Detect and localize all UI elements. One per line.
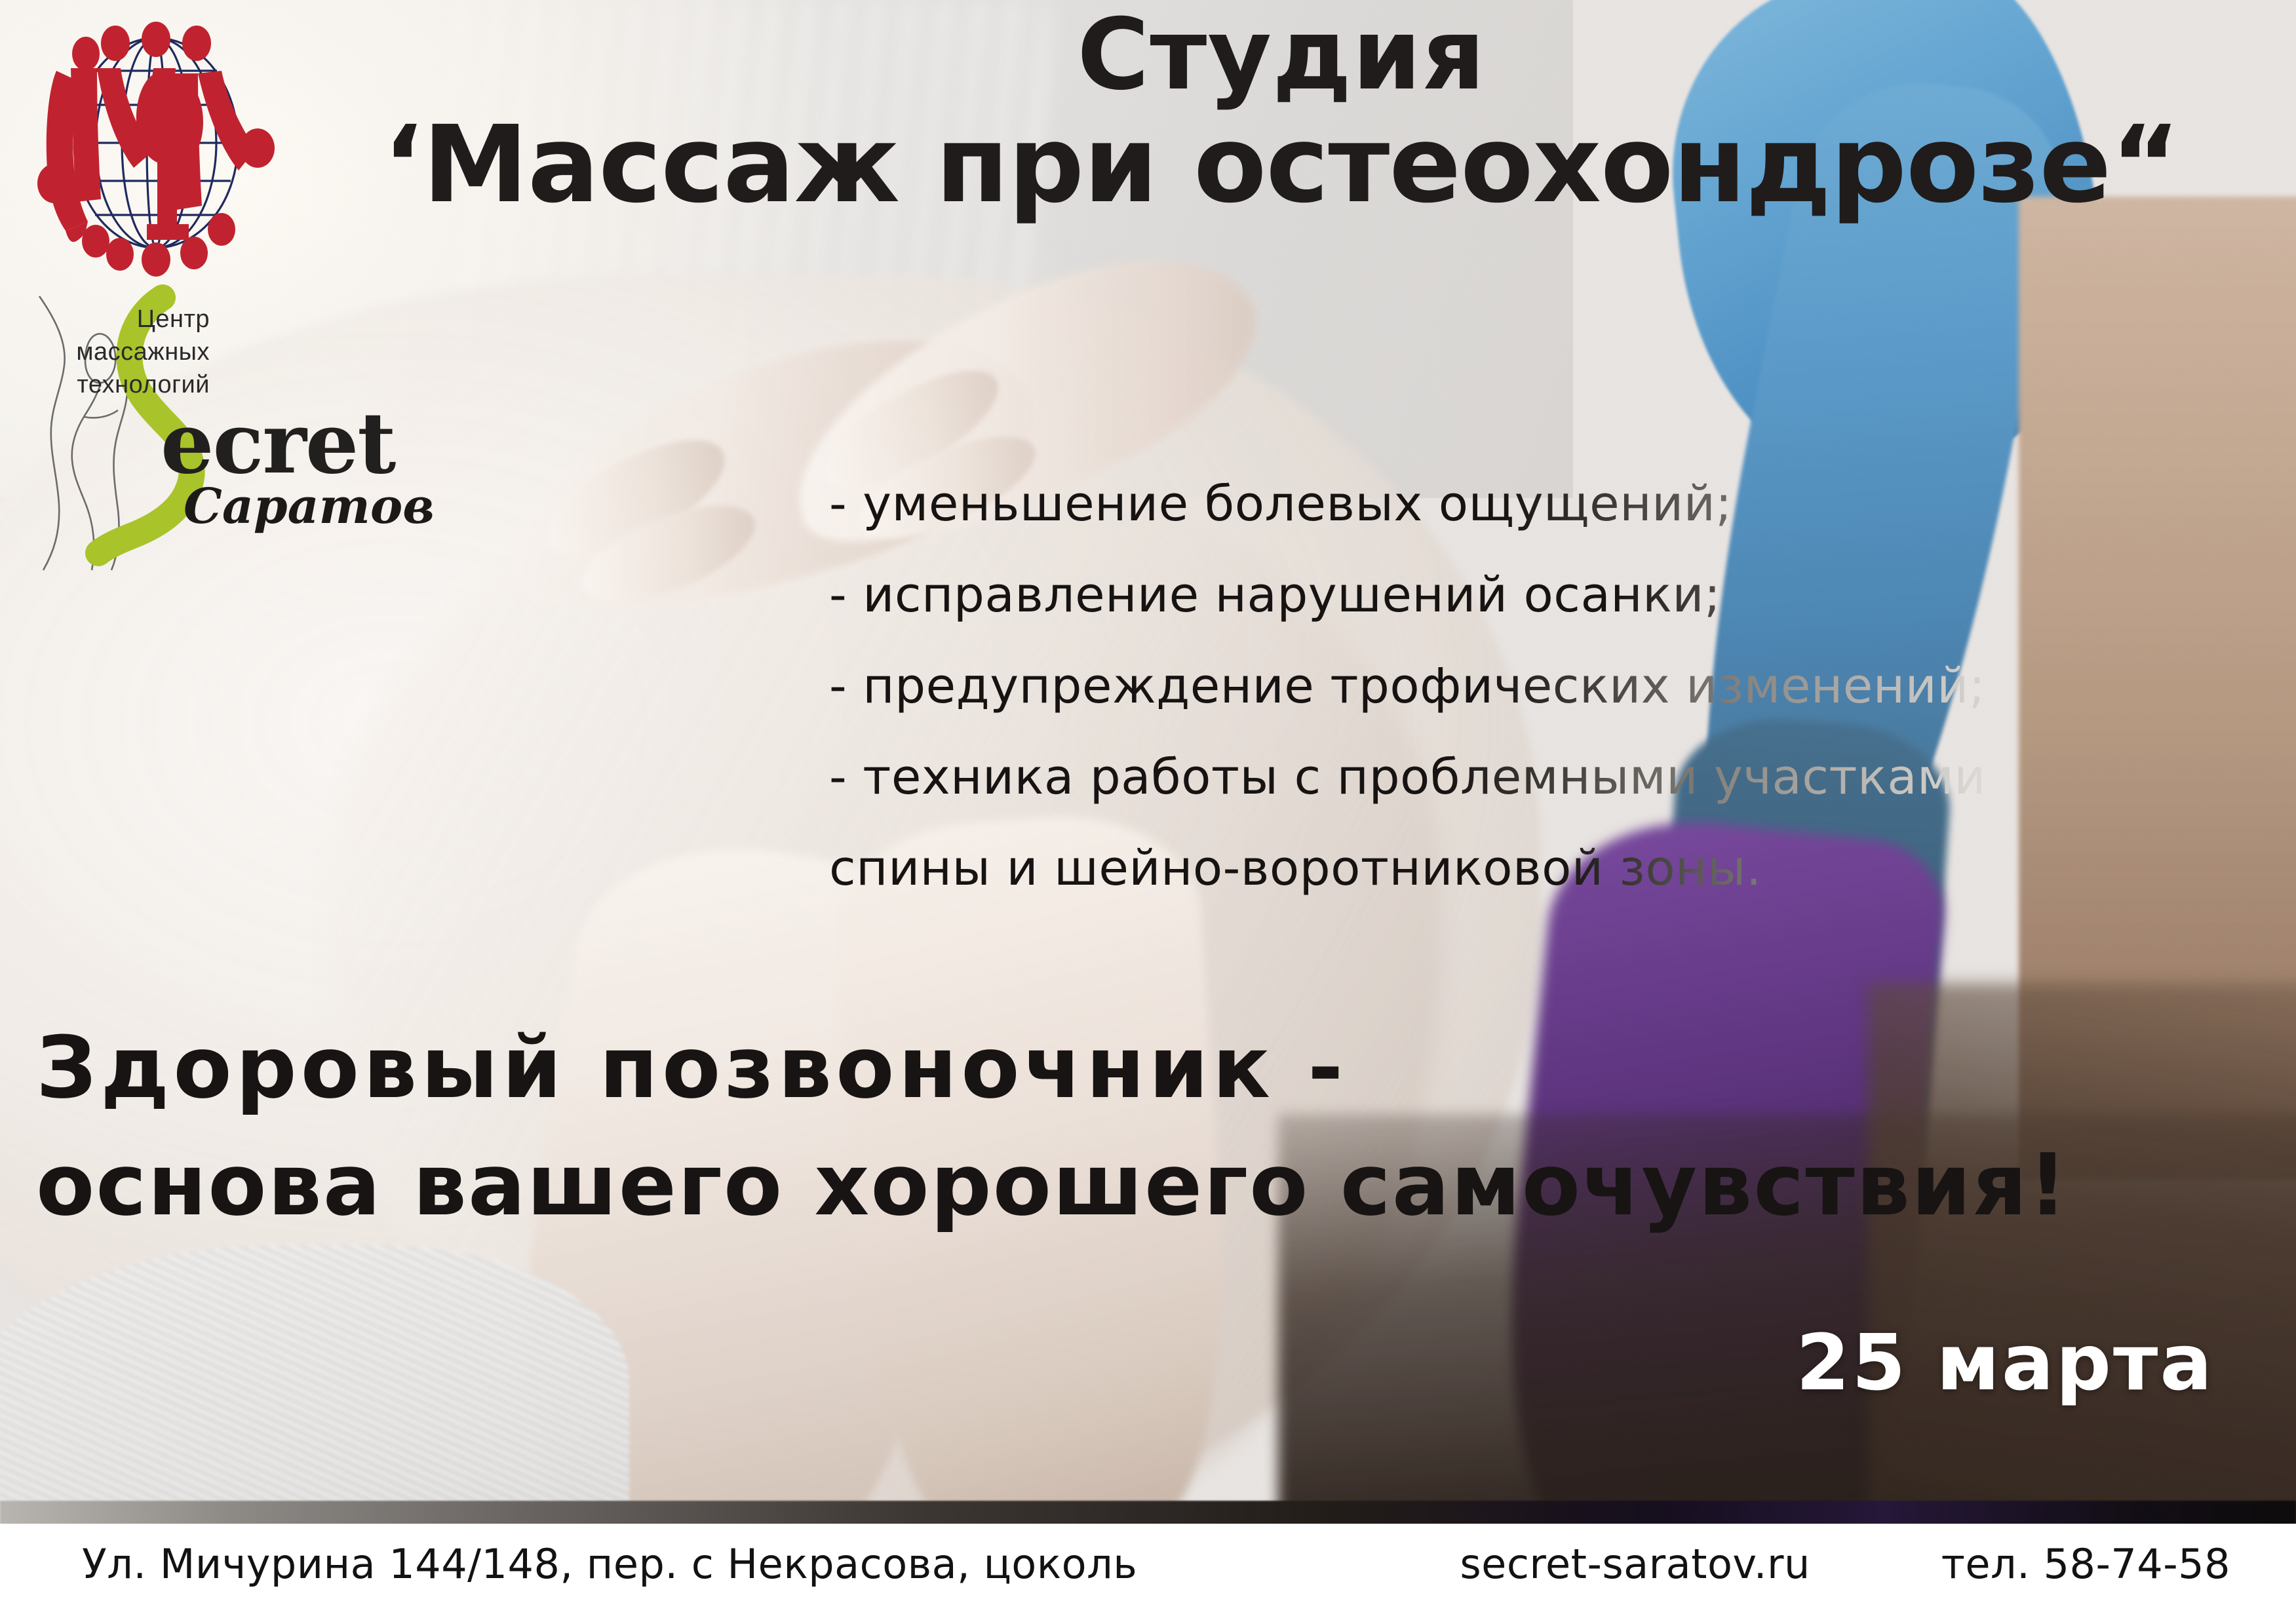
poster-root: Центр массажных технологий ecret Саратов… [0,0,2296,1601]
benefit-item: - предупреждение трофических изменений; [829,641,2258,732]
globe-with-people-icon [25,5,287,280]
slogan-line-2: основа вашего хорошего самочувствия! [36,1127,2068,1244]
mom-logo [25,5,287,280]
benefit-item: - исправление нарушений осанки; [829,550,2258,641]
secret-city: Саратов [184,478,435,535]
benefits-list: - уменьшение болевых ощущений; - исправл… [829,459,2258,915]
secret-logo: Центр массажных технологий ecret Саратов [20,282,439,577]
headline-studio: Студия [275,4,2287,106]
footer-bar: Ул. Мичурина 144/148, пер. с Некрасова, … [0,1527,2296,1601]
secret-tagline-line1: Центр [0,303,210,336]
footer-address: Ул. Мичурина 144/148, пер. с Некрасова, … [82,1540,1137,1588]
benefit-item: - уменьшение болевых ощущений; [829,459,2258,550]
slogan-block: Здоровый позвоночник - основа вашего хор… [36,1009,2068,1244]
secret-tagline: Центр массажных технологий [0,303,210,401]
headline-block: Студия ‘Массаж при остеохондрозе“ [275,4,2287,225]
benefit-item: - техника работы с проблемными участками [829,732,2258,823]
event-date: 25 марта [1796,1317,2214,1408]
headline-title: ‘Массаж при остеохондрозе“ [275,106,2287,225]
photo-towel [0,1245,629,1524]
slogan-line-1: Здоровый позвоночник - [36,1009,2068,1127]
footer-phone[interactable]: тел. 58-74-58 [1941,1540,2230,1588]
photo-bottom-edge [0,1501,2296,1524]
benefit-item: спины и шейно-воротниковой зоны. [829,823,2258,914]
footer-website[interactable]: secret-saratov.ru [1460,1540,1810,1588]
secret-tagline-line2: массажных [0,336,210,368]
